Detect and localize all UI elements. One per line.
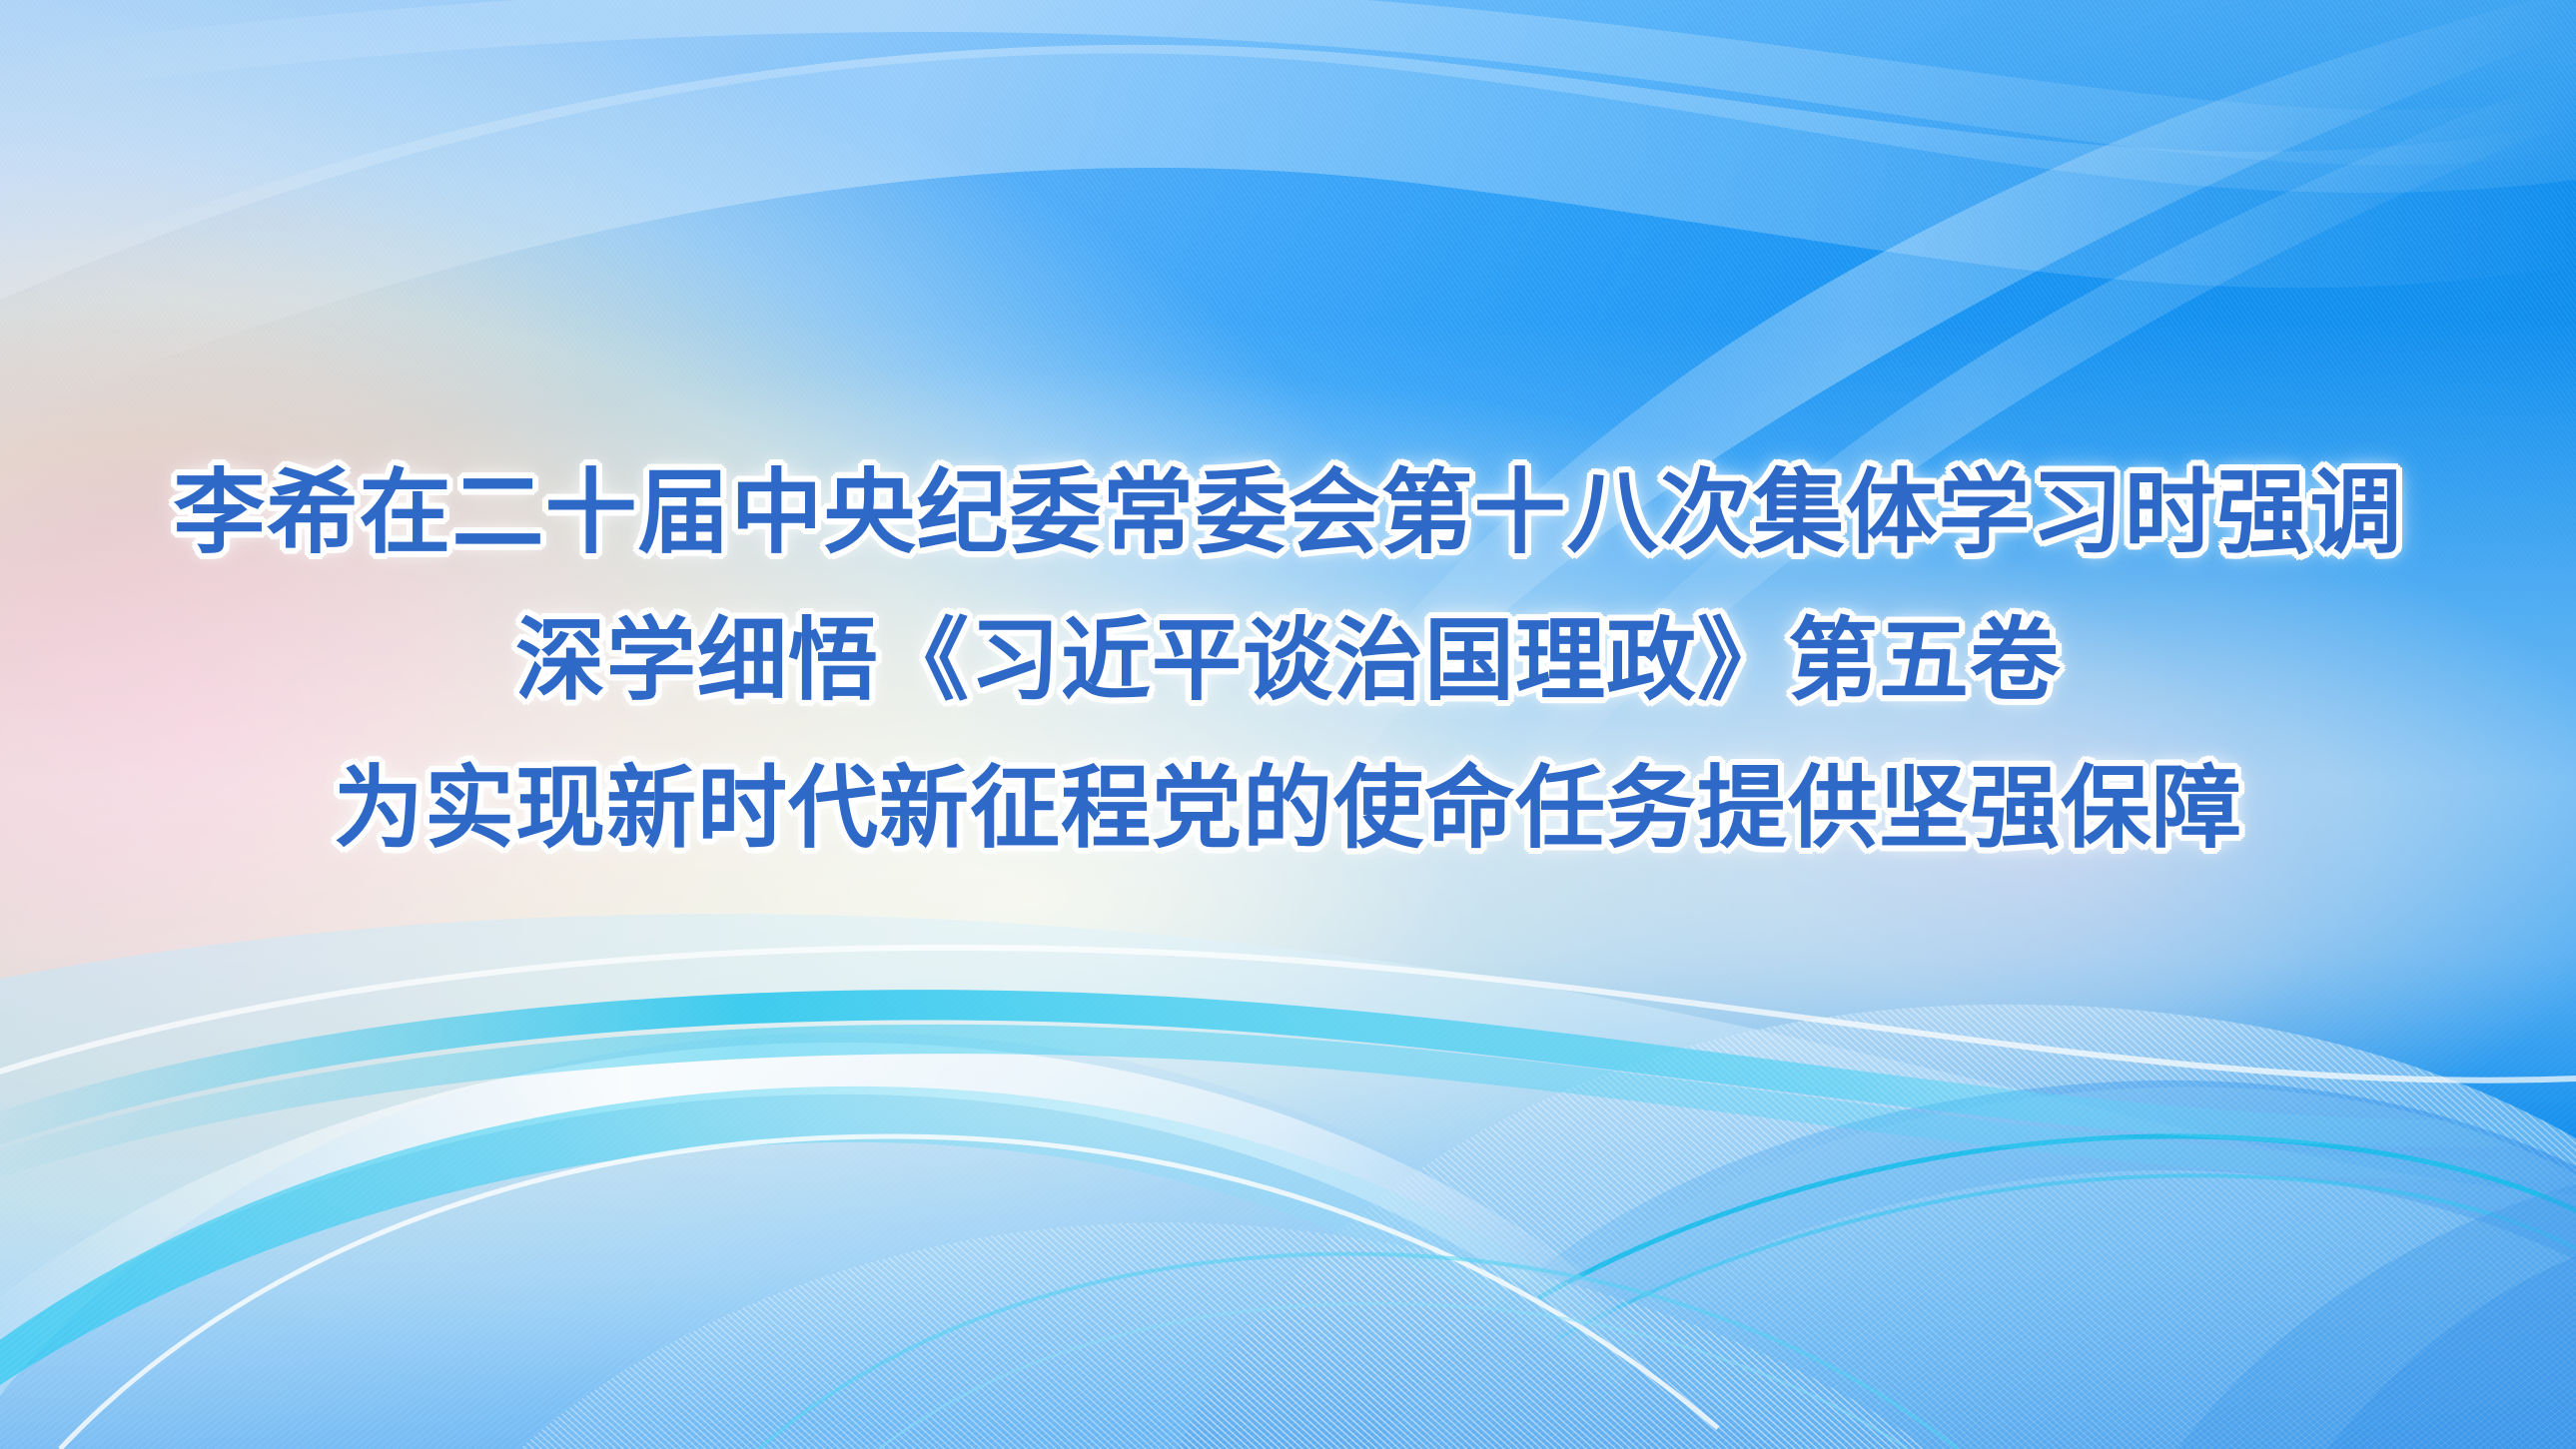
banner-canvas: 李希在二十届中央纪委常委会第十八次集体学习时强调 深学细悟《习近平谈治国理政》第… <box>0 0 2576 1449</box>
headline-block: 李希在二十届中央纪委常委会第十八次集体学习时强调 深学细悟《习近平谈治国理政》第… <box>0 439 2576 883</box>
headline-line-1: 李希在二十届中央纪委常委会第十八次集体学习时强调 <box>0 439 2576 587</box>
headline-line-3: 为实现新时代新征程党的使命任务提供坚强保障 <box>0 735 2576 883</box>
headline-line-2: 深学细悟《习近平谈治国理政》第五卷 <box>0 587 2576 735</box>
